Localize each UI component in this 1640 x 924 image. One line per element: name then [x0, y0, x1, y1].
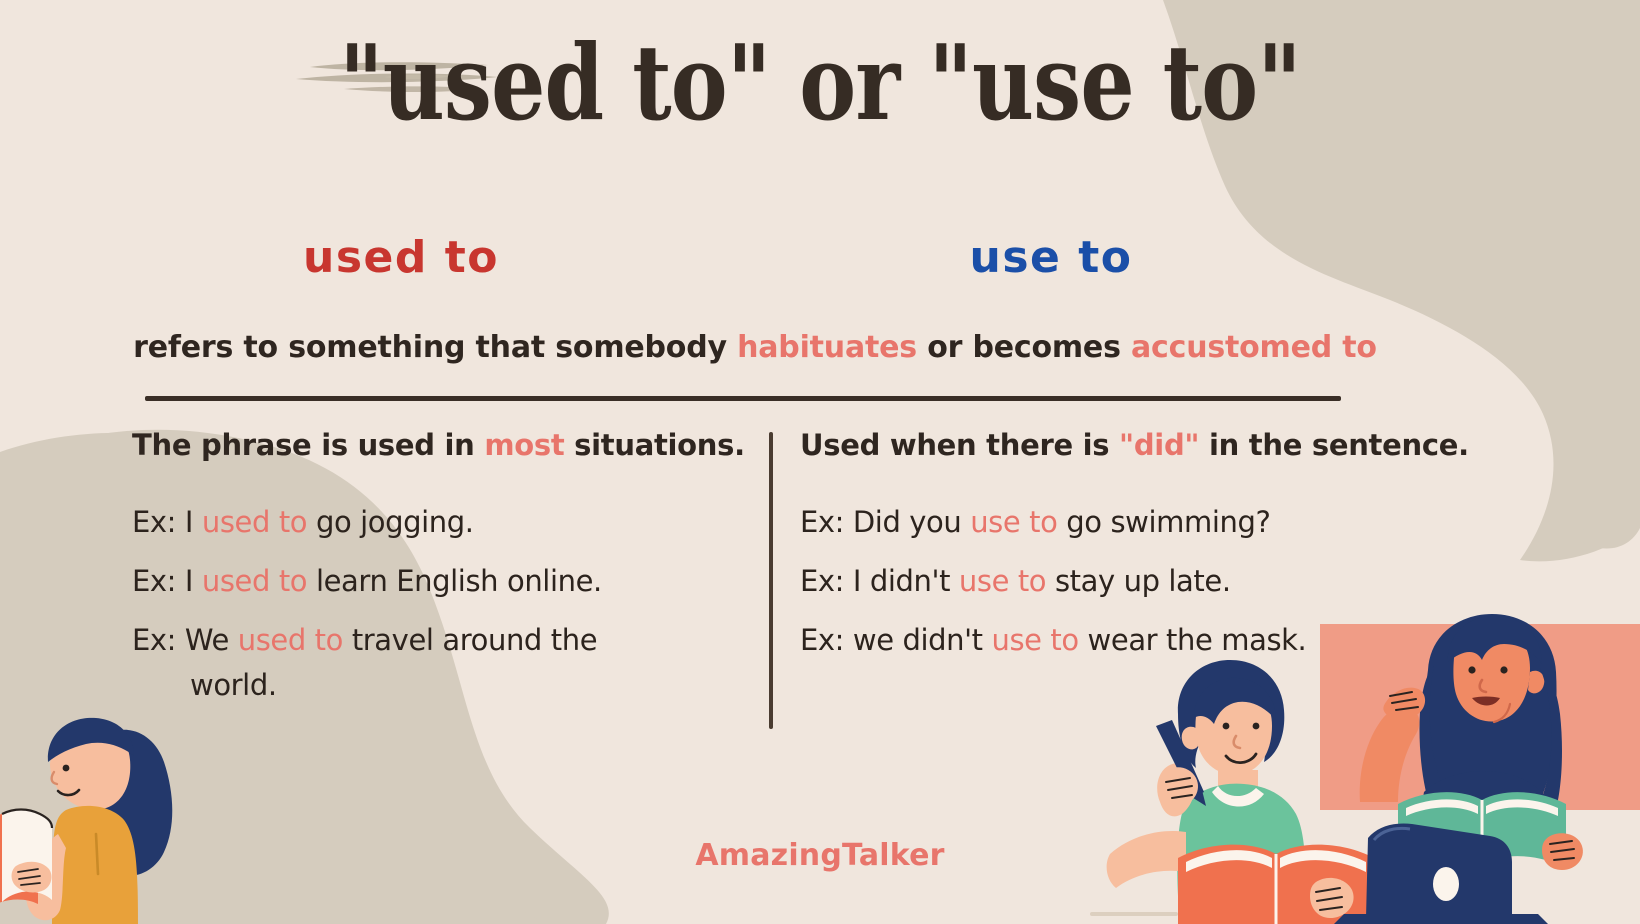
example-post: go swimming?	[1057, 505, 1270, 539]
eye	[63, 765, 70, 772]
example-item: Ex: I used to learn English online.	[132, 567, 747, 596]
example-post: learn English online.	[307, 564, 602, 598]
column-header-use-to: use to	[826, 232, 1276, 283]
subtitle-part1: The phrase is used in	[132, 428, 484, 462]
woman-eye-left	[1468, 666, 1475, 673]
horizontal-divider	[145, 396, 1341, 401]
example-pre: Ex: I	[132, 505, 202, 539]
column-used-to: The phrase is used in most situations. E…	[132, 428, 747, 730]
definition-highlight-accustomed-to: accustomed to	[1131, 330, 1377, 365]
example-highlight: used to	[202, 505, 307, 539]
definition-part2: or becomes	[917, 330, 1131, 365]
boy-eye-left	[1223, 723, 1230, 730]
definition-highlight-habituates: habituates	[737, 330, 917, 365]
infographic-canvas: "used to" or "use to" used to use to ref…	[0, 0, 1640, 924]
subtitle-part2: situations.	[564, 428, 744, 462]
example-pre: Ex: Did you	[800, 505, 970, 539]
boy-eye-right	[1253, 723, 1260, 730]
example-item: Ex: I used to go jogging.	[132, 508, 747, 537]
example-post: go jogging.	[307, 505, 473, 539]
example-pre: Ex: We	[132, 623, 238, 657]
subtitle-part2: in the sentence.	[1199, 428, 1469, 462]
illustration-students-learning	[1068, 596, 1640, 924]
definition-part1: refers to something that somebody	[133, 330, 737, 365]
title-block: "used to" or "use to"	[0, 30, 1640, 136]
example-highlight: used to	[202, 564, 307, 598]
example-pre: Ex: I didn't	[800, 564, 959, 598]
example-highlight: use to	[991, 623, 1078, 657]
column-header-used-to: used to	[176, 232, 626, 283]
page-title: "used to" or "use to"	[148, 30, 1493, 136]
example-post: stay up late.	[1046, 564, 1231, 598]
example-highlight: use to	[959, 564, 1046, 598]
example-item: Ex: Did you use to go swimming?	[800, 508, 1460, 537]
example-pre: Ex: I	[132, 564, 202, 598]
subtitle-part1: Used when there is	[800, 428, 1119, 462]
illustration-girl-reading-book	[0, 688, 244, 924]
vertical-divider	[769, 432, 773, 729]
example-item: Ex: I didn't use to stay up late.	[800, 567, 1460, 596]
laptop-camera-dot	[1433, 867, 1459, 901]
definition-line: refers to something that somebody habitu…	[120, 330, 1390, 365]
shirt	[52, 806, 138, 924]
woman-hand-book	[1542, 833, 1583, 870]
column-used-to-subtitle: The phrase is used in most situations.	[132, 428, 747, 462]
example-post: travel around the	[343, 623, 597, 657]
column-use-to-subtitle: Used when there is "did" in the sentence…	[800, 428, 1460, 462]
boy-arm-lower	[1107, 831, 1186, 888]
example-pre: Ex: we didn't	[800, 623, 991, 657]
subtitle-highlight: most	[484, 428, 564, 462]
woman-eye-right	[1500, 666, 1507, 673]
subtitle-highlight: "did"	[1119, 428, 1199, 462]
example-continuation: world.	[190, 671, 747, 700]
example-highlight: used to	[238, 623, 343, 657]
example-list-used-to: Ex: I used to go jogging. Ex: I used to …	[132, 508, 747, 700]
laptop-base	[1334, 914, 1548, 924]
example-highlight: use to	[970, 505, 1057, 539]
